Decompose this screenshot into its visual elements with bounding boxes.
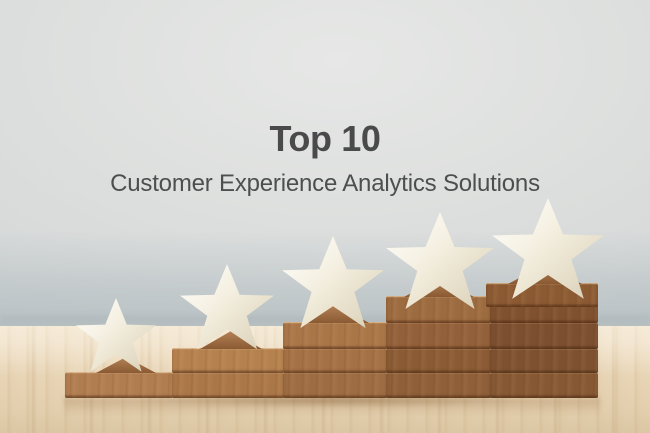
block-staircase	[0, 0, 650, 433]
block-row1-step1	[65, 372, 173, 398]
block-row2-step3	[283, 348, 387, 373]
block-row4-step4	[386, 296, 491, 323]
block-row3-step3	[283, 322, 387, 349]
block-row2-step2	[172, 348, 284, 373]
banner-image: Top 10 Customer Experience Analytics Sol…	[0, 0, 650, 433]
block-row1-step5	[490, 372, 598, 398]
block-row1-step3	[283, 372, 387, 398]
block-row3-step4	[386, 322, 491, 349]
block-row1-step4	[386, 372, 491, 398]
block-row2-step5	[490, 348, 598, 373]
block-row3-step5	[490, 322, 598, 349]
block-row2-step4	[386, 348, 491, 373]
block-row1-step2	[172, 372, 284, 398]
